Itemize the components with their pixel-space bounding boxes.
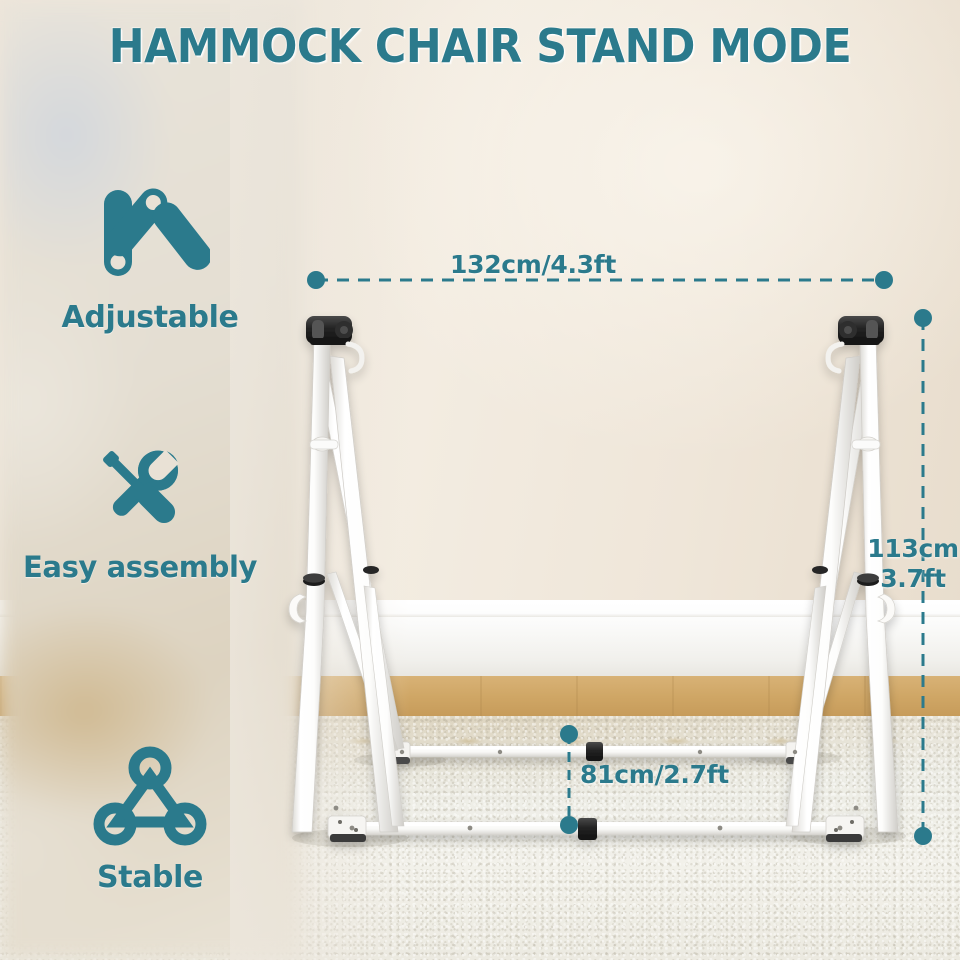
dimension-label-height: 113cm 3.7ft [867, 534, 959, 594]
hanging-hook-right [828, 344, 842, 371]
back-legs [314, 352, 876, 752]
foot-right [826, 816, 864, 842]
dimension-label-depth: 81cm/2.7ft [580, 760, 729, 789]
dimension-label-height-ft: 3.7ft [867, 564, 959, 594]
hammock-chair-stand [0, 0, 960, 960]
dimension-endpoint [560, 725, 578, 743]
collar-ring-left[interactable] [303, 573, 325, 586]
side-latch-left[interactable] [289, 594, 306, 623]
foot-left [328, 816, 366, 842]
dimension-endpoint [560, 816, 578, 834]
collar-ring-inner-right[interactable] [812, 566, 828, 574]
top-clamp-right[interactable] [838, 316, 884, 345]
hanging-hook-left [348, 344, 362, 371]
rail-joint-cap [578, 818, 597, 840]
dimension-label-height-cm: 113cm [867, 534, 959, 564]
collar-ring-inner-left[interactable] [363, 566, 379, 574]
rail-joint-cap [586, 742, 603, 761]
dimension-endpoint [307, 271, 325, 289]
dimension-label-width: 132cm/4.3ft [450, 250, 616, 279]
top-clamp-left[interactable] [306, 316, 353, 345]
dimension-endpoint [914, 309, 932, 327]
dimension-line-depth [560, 725, 578, 834]
dimension-endpoint [914, 827, 932, 845]
dimension-endpoint [875, 271, 893, 289]
infographic-canvas: HAMMOCK CHAIR STAND MODE Adjustable [0, 0, 960, 960]
